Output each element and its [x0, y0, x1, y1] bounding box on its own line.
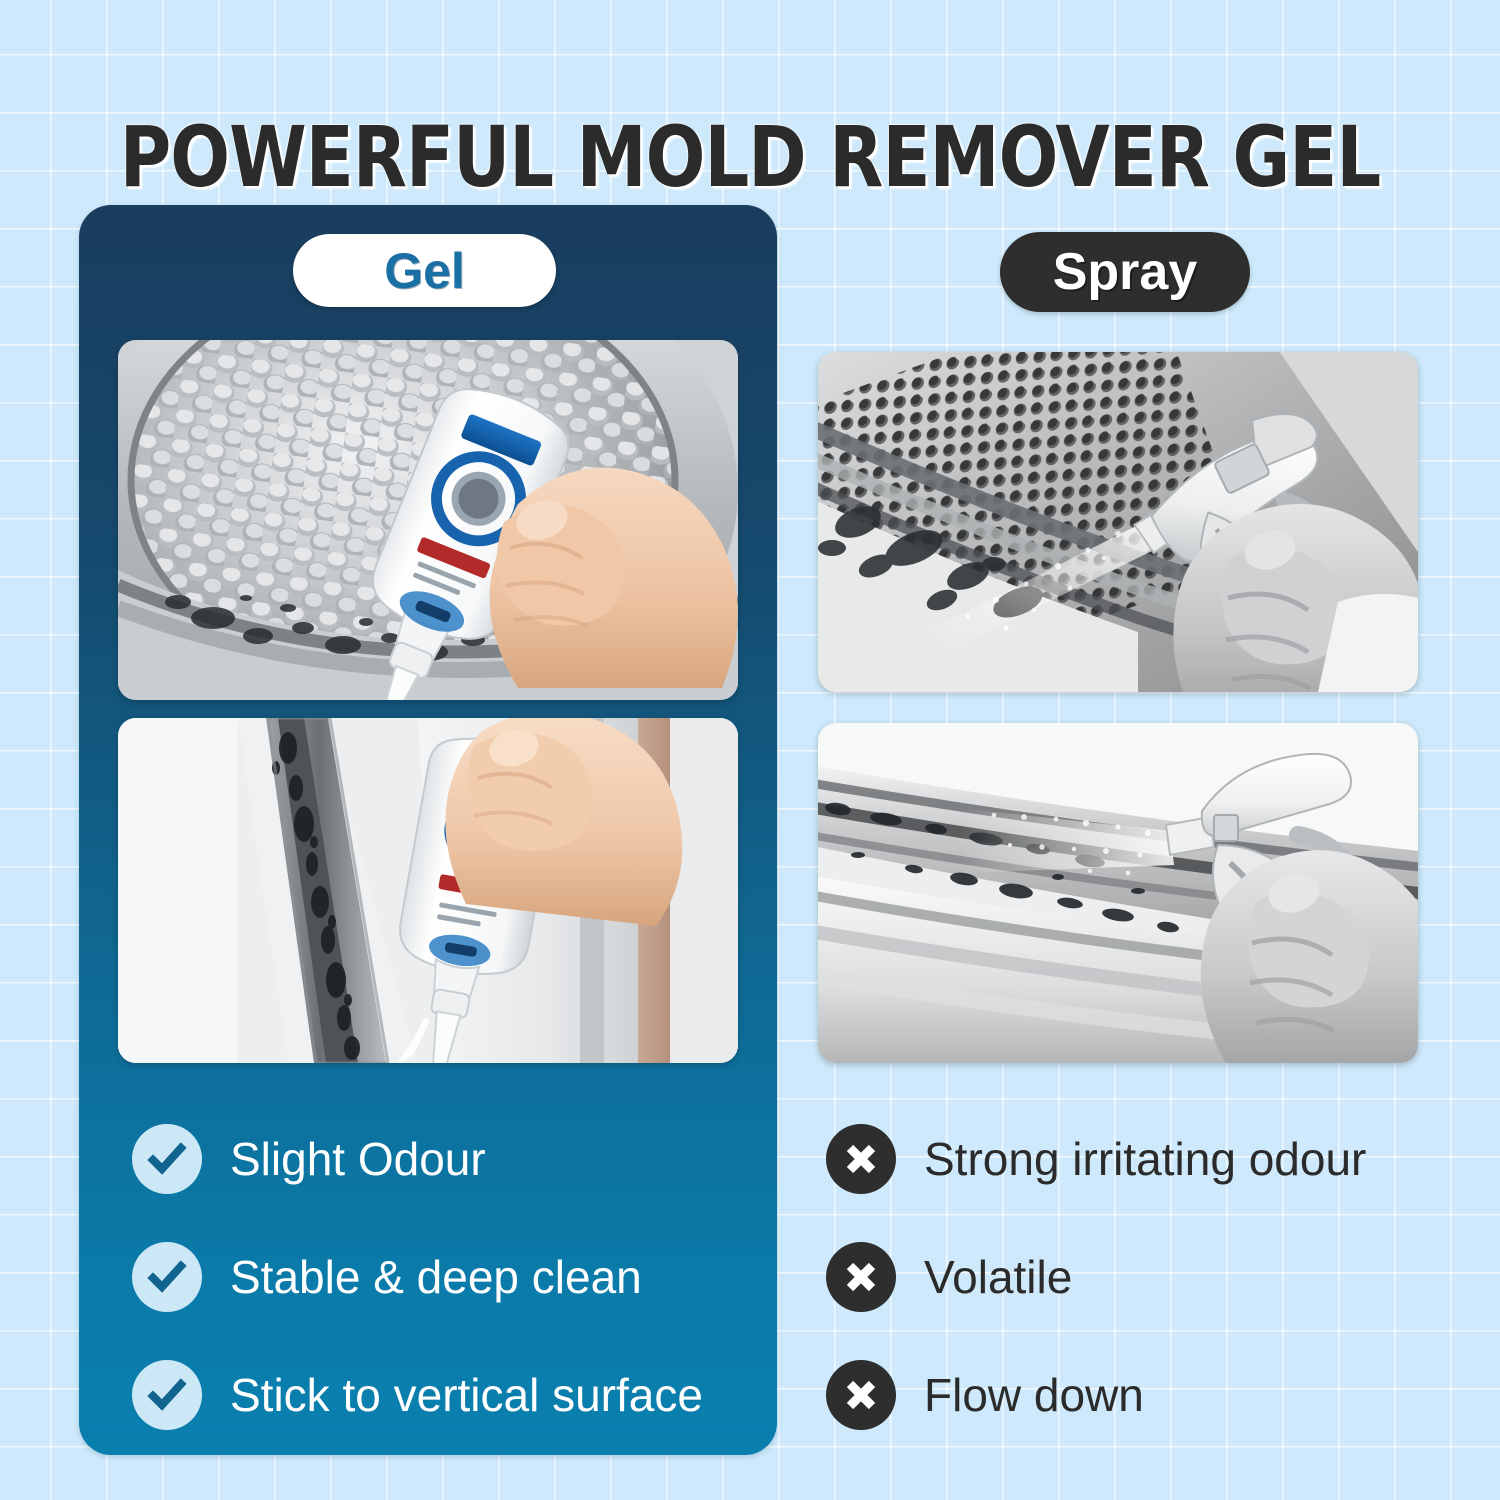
- check-icon: [132, 1360, 202, 1430]
- spray-drum-illustration: [818, 352, 1418, 692]
- page-title: POWERFUL MOLD REMOVER GEL: [53, 108, 1448, 206]
- gel-drum-illustration: [118, 340, 738, 700]
- gel-photo-door-seal: [118, 718, 738, 1063]
- gel-feature-label: Slight Odour: [230, 1135, 486, 1183]
- check-icon: [132, 1242, 202, 1312]
- spray-badge-label: Spray: [1053, 246, 1198, 298]
- spray-feature-item: Volatile: [826, 1218, 1456, 1336]
- gel-door-seal-illustration: [118, 718, 738, 1063]
- spray-door-seal-illustration: [818, 723, 1418, 1063]
- spray-feature-item: Flow down: [826, 1336, 1456, 1454]
- spray-feature-label: Volatile: [924, 1253, 1072, 1301]
- cross-icon: [826, 1124, 896, 1194]
- gel-feature-item: Stick to vertical surface: [132, 1336, 752, 1454]
- gel-feature-label: Stick to vertical surface: [230, 1371, 703, 1419]
- spray-photo-washing-machine-drum: [818, 352, 1418, 692]
- cross-icon: [826, 1242, 896, 1312]
- spray-feature-label: Strong irritating odour: [924, 1135, 1366, 1183]
- gel-feature-item: Stable & deep clean: [132, 1218, 752, 1336]
- gel-badge-label: Gel: [384, 246, 465, 296]
- spray-badge[interactable]: Spray: [1000, 232, 1250, 312]
- gel-feature-item: Slight Odour: [132, 1100, 752, 1218]
- spray-feature-list: Strong irritating odour Volatile Flow do…: [826, 1100, 1456, 1454]
- spray-feature-item: Strong irritating odour: [826, 1100, 1456, 1218]
- gel-photo-washing-machine-drum: [118, 340, 738, 700]
- gel-badge[interactable]: Gel: [293, 234, 556, 307]
- gel-feature-list: Slight Odour Stable & deep clean Stick t…: [132, 1100, 752, 1454]
- gel-feature-label: Stable & deep clean: [230, 1253, 642, 1301]
- spray-photo-door-seal: [818, 723, 1418, 1063]
- cross-icon: [826, 1360, 896, 1430]
- spray-feature-label: Flow down: [924, 1371, 1144, 1419]
- check-icon: [132, 1124, 202, 1194]
